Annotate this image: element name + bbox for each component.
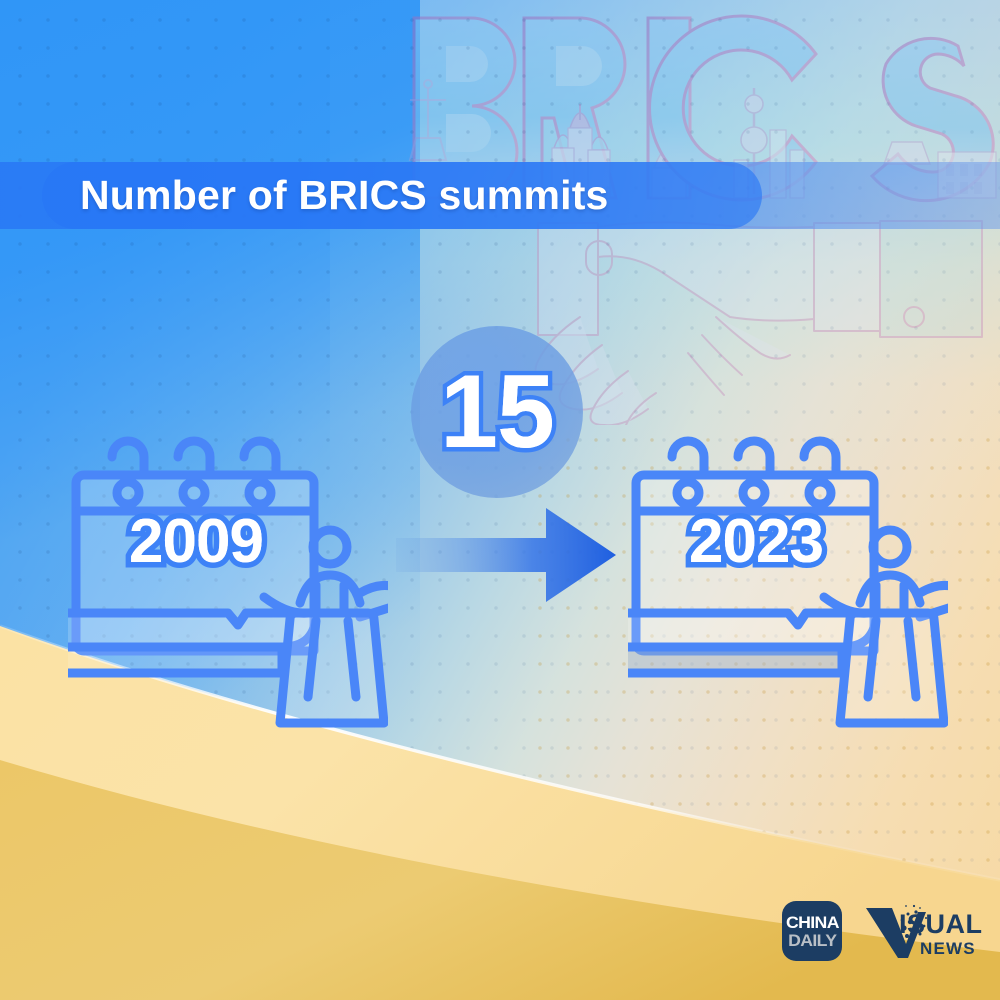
visual-news-line2: NEWS [920,940,976,957]
right-arrow-icon [396,500,616,610]
visual-news-logo[interactable]: ISUAL NEWS [862,900,982,962]
calendar-podium-icon [68,425,388,745]
brics-summits-infographic: Number of BRICS summits [0,0,1000,1000]
china-daily-line1: CHINA [786,914,839,931]
page-title: Number of BRICS summits [80,162,609,229]
summit-count-value: 15 [411,326,583,498]
year-label-from: 2009 [68,511,324,573]
year-label-to: 2023 [628,511,884,573]
visual-news-line1: ISUAL [899,911,983,938]
china-daily-line2: DAILY [788,932,836,949]
year-group-from: 2009 2009 [68,425,388,745]
calendar-podium-icon [628,425,948,745]
year-group-to: 2023 2023 [628,425,948,745]
branding-logos: CHINA DAILY ISUAL NEWS [782,900,982,962]
china-daily-logo[interactable]: CHINA DAILY [782,901,842,961]
